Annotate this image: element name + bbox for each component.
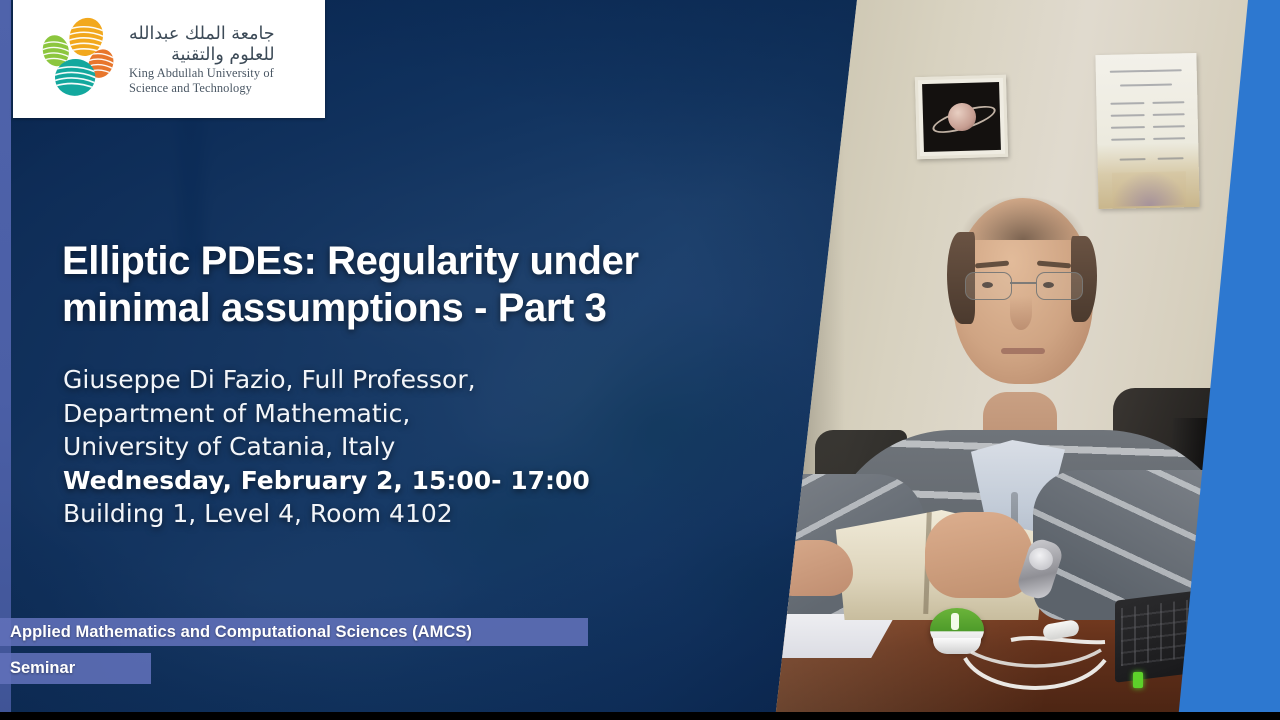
- poster-text-line: [1111, 138, 1145, 141]
- title-block: Elliptic PDEs: Regularity under minimal …: [62, 238, 752, 332]
- wall-poster: [1095, 53, 1199, 209]
- poster-text-line: [1120, 83, 1172, 86]
- eyeglass-bridge: [1010, 282, 1036, 284]
- poster-text-line: [1153, 137, 1185, 140]
- poster-text-line: [1153, 125, 1185, 128]
- eyeglasses-icon: [965, 272, 1081, 298]
- seminar-location-line: Building 1, Level 4, Room 4102: [63, 497, 763, 531]
- department-banner-label: Applied Mathematics and Computational Sc…: [0, 623, 472, 642]
- event-type-banner: Seminar: [0, 653, 151, 684]
- speaker-right-hand: [925, 512, 1033, 598]
- poster-text-line: [1153, 113, 1185, 116]
- poster-image-blob: [1112, 171, 1187, 207]
- desk-cables: [775, 600, 1280, 720]
- logo-english-line-1: King Abdullah University of: [129, 66, 275, 81]
- logo-english-line-2: Science and Technology: [129, 81, 275, 96]
- eyeglass-lens-right: [1036, 272, 1083, 300]
- speaker-mouth: [1001, 348, 1045, 354]
- bottom-letterbox-bar: [0, 712, 1280, 720]
- poster-text-line: [1110, 69, 1182, 73]
- saturn-photo-frame: [915, 75, 1008, 160]
- eyeglass-lens-left: [965, 272, 1012, 300]
- poster-text-line: [1110, 102, 1144, 105]
- speaker-department-line: Department of Mathematic,: [63, 397, 763, 431]
- speaker-name-line: Giuseppe Di Fazio, Full Professor,: [63, 363, 763, 397]
- kaust-logo-card: جامعة الملك عبدالله للعلوم والتقنية King…: [13, 0, 325, 118]
- poster-text-line: [1158, 157, 1184, 160]
- page-title: Elliptic PDEs: Regularity under minimal …: [62, 238, 752, 332]
- speaker-nose: [1010, 296, 1032, 330]
- poster-text-line: [1152, 101, 1184, 104]
- poster-text-line: [1111, 126, 1145, 129]
- logo-arabic-line-2: للعلوم والتقنية: [129, 45, 275, 66]
- kaust-petal-logo-icon: [31, 13, 123, 105]
- speaker-hair-top: [961, 196, 1085, 240]
- poster-text-line: [1120, 158, 1146, 161]
- left-accent-strip: [0, 0, 11, 720]
- kaust-wordmark: جامعة الملك عبدالله للعلوم والتقنية King…: [129, 22, 275, 95]
- speaker-affiliation-line: University of Catania, Italy: [63, 430, 763, 464]
- department-banner: Applied Mathematics and Computational Sc…: [0, 618, 588, 646]
- event-type-banner-label: Seminar: [0, 659, 75, 678]
- seminar-datetime-line: Wednesday, February 2, 15:00- 17:00: [63, 464, 763, 498]
- speaker-video-frame: [775, 0, 1280, 720]
- seminar-announcement-slide: جامعة الملك عبدالله للعلوم والتقنية King…: [0, 0, 1280, 720]
- seminar-details-block: Giuseppe Di Fazio, Full Professor, Depar…: [63, 363, 763, 531]
- poster-text-line: [1111, 114, 1145, 117]
- device-led-indicator: [1133, 672, 1143, 688]
- saturn-planet: [947, 103, 976, 132]
- logo-arabic-line-1: جامعة الملك عبدالله: [129, 24, 275, 45]
